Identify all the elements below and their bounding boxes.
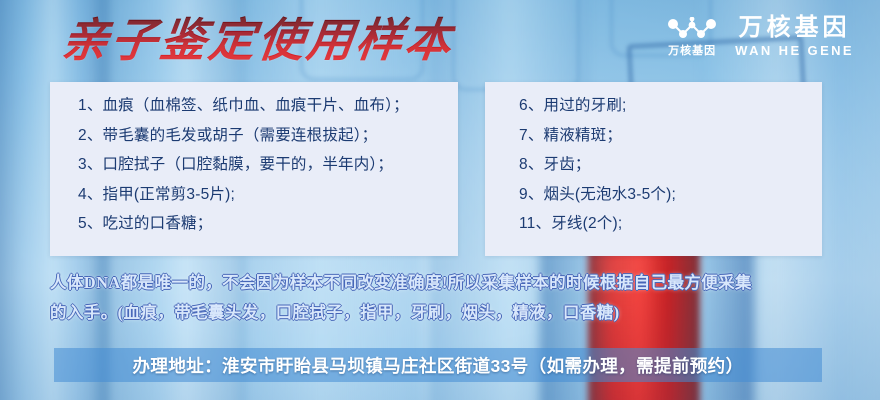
address-text: 办理地址：淮安市盱眙县马坝镇马庄社区街道33号（如需办理，需提前预约） xyxy=(133,353,744,378)
brand-name-en: WAN HE GENE xyxy=(735,44,854,57)
list-item: 9、烟头(无泡水3-5个); xyxy=(519,187,822,203)
list-item: 5、吃过的口香糖； xyxy=(78,216,458,232)
address-banner: 办理地址：淮安市盱眙县马坝镇马庄社区街道33号（如需办理，需提前预约） xyxy=(54,348,822,382)
sample-list-panel-right: 6、用过的牙刷; 7、精液精斑； 8、牙齿； 9、烟头(无泡水3-5个); 11… xyxy=(485,82,822,256)
sample-list-panel-left: 1、血痕（血棉签、纸巾血、血痕干片、血布）； 2、带毛囊的毛发或胡子（需要连根拔… xyxy=(50,82,458,256)
brand-mark-label: 万核基因 xyxy=(668,46,716,57)
brand-mark: 万核基因 xyxy=(665,17,719,57)
parentage-sample-poster: 亲子鉴定使用样本 万核基因 xyxy=(0,0,880,400)
list-item: 8、牙齿； xyxy=(519,157,822,173)
list-item: 1、血痕（血棉签、纸巾血、血痕干片、血布）； xyxy=(78,98,458,114)
list-item: 11、牙线(2个); xyxy=(519,216,822,232)
note-line-1: 人体DNA都是唯一的，不会因为样本不同改变准确度!所以采集样本的时候根据自己最方… xyxy=(50,268,840,298)
note-line-2: 的入手。(血痕，带毛囊头发，口腔拭子，指甲，牙刷，烟头，精液，口香糖) xyxy=(50,298,840,328)
list-item: 7、精液精斑； xyxy=(519,128,822,144)
list-item: 4、指甲(正常剪3-5片); xyxy=(78,187,458,203)
list-item: 2、带毛囊的毛发或胡子（需要连根拔起）； xyxy=(78,128,458,144)
brand-wordmark: 万核基因 WAN HE GENE xyxy=(735,16,854,57)
brand-logo: 万核基因 万核基因 WAN HE GENE xyxy=(665,16,854,57)
list-item: 6、用过的牙刷; xyxy=(519,98,822,114)
dna-molecule-icon xyxy=(665,17,719,43)
brand-name-cn: 万核基因 xyxy=(739,16,851,40)
note-paragraph: 人体DNA都是唯一的，不会因为样本不同改变准确度!所以采集样本的时候根据自己最方… xyxy=(50,268,840,328)
page-title: 亲子鉴定使用样本 xyxy=(59,14,458,68)
list-item: 3、口腔拭子（口腔黏膜，要干的，半年内）； xyxy=(78,157,458,173)
